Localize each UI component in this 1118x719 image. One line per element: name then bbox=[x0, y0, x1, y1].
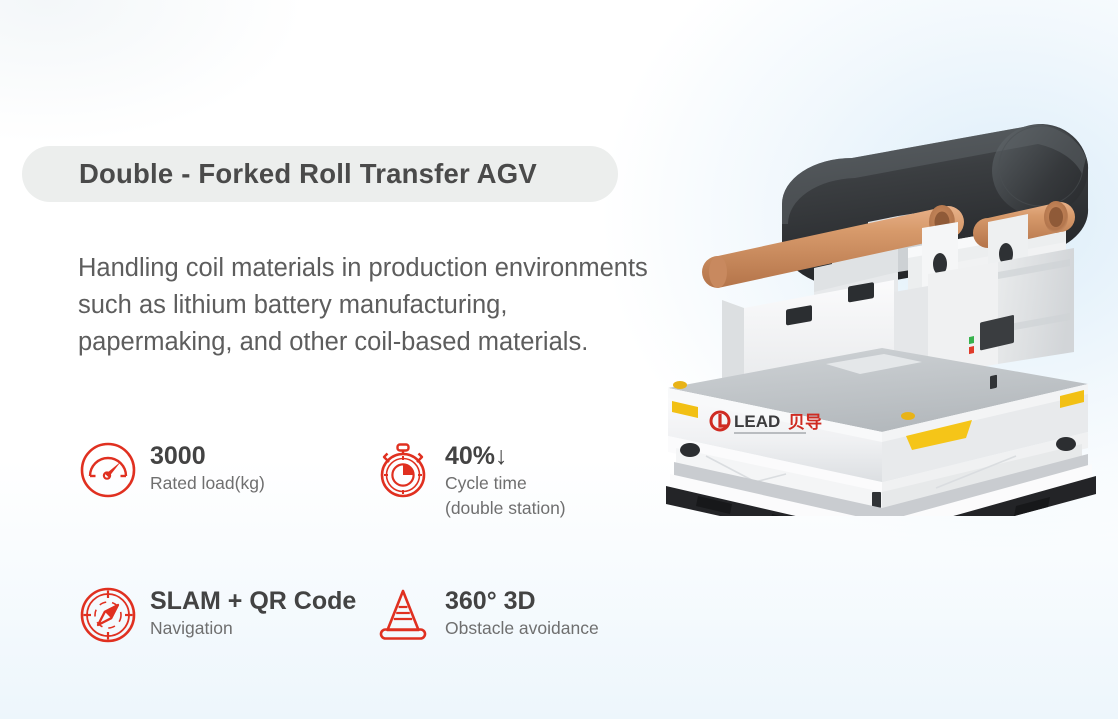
spec-label: Obstacle avoidance bbox=[445, 617, 599, 640]
spec-row: SLAM + QR Code Navigation 360° 3D bbox=[78, 583, 658, 645]
svg-text:贝导: 贝导 bbox=[788, 413, 822, 432]
agv-product-image: LEAD 贝导 bbox=[636, 96, 1106, 516]
spec-text: 360° 3D Obstacle avoidance bbox=[445, 583, 599, 640]
spec-label-secondary: (double station) bbox=[445, 497, 566, 520]
background-wash-topleft bbox=[0, 0, 460, 260]
wheel-left bbox=[680, 443, 700, 457]
page-title: Double - Forked Roll Transfer AGV bbox=[79, 158, 537, 190]
spec-label: Navigation bbox=[150, 617, 356, 640]
traffic-cone-icon bbox=[373, 585, 433, 645]
spec-label: Cycle time bbox=[445, 472, 566, 495]
gauge-icon bbox=[78, 440, 138, 500]
beacon-right bbox=[901, 412, 915, 420]
wheel-right bbox=[1056, 437, 1076, 451]
product-description: Handling coil materials in production en… bbox=[78, 250, 648, 361]
spec-grid: 3000 Rated load(kg) bbox=[78, 438, 658, 645]
beacon-left bbox=[673, 381, 687, 389]
spec-value: SLAM + QR Code bbox=[150, 587, 356, 615]
spec-item-rated-load: 3000 Rated load(kg) bbox=[78, 438, 373, 521]
spec-value: 360° 3D bbox=[445, 587, 599, 615]
compass-icon bbox=[78, 585, 138, 645]
spec-row: 3000 Rated load(kg) bbox=[78, 438, 658, 521]
spec-item-navigation: SLAM + QR Code Navigation bbox=[78, 583, 373, 645]
spec-text: 40%↓ Cycle time (double station) bbox=[445, 438, 566, 521]
title-pill: Double - Forked Roll Transfer AGV bbox=[22, 146, 618, 202]
spec-item-cycle-time: 40%↓ Cycle time (double station) bbox=[373, 438, 653, 521]
spec-value: 3000 bbox=[150, 442, 265, 470]
spec-text: 3000 Rated load(kg) bbox=[150, 438, 265, 495]
spec-item-obstacle-avoidance: 360° 3D Obstacle avoidance bbox=[373, 583, 653, 645]
spec-value: 40%↓ bbox=[445, 442, 566, 470]
stopwatch-icon bbox=[373, 440, 433, 500]
spec-label: Rated load(kg) bbox=[150, 472, 265, 495]
svg-text:LEAD: LEAD bbox=[734, 412, 780, 431]
spec-text: SLAM + QR Code Navigation bbox=[150, 583, 356, 640]
product-slide: Double - Forked Roll Transfer AGV Handli… bbox=[0, 0, 1118, 719]
